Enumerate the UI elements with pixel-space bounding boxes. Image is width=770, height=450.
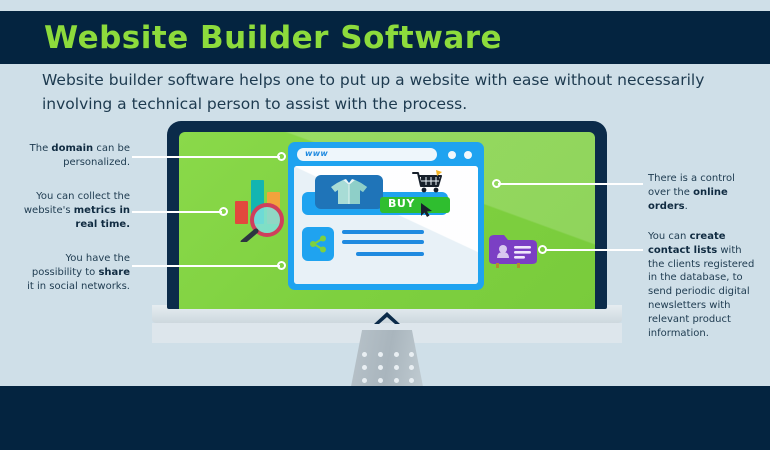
connector-node-share [277, 261, 286, 270]
browser-toolbar: www [294, 148, 478, 162]
connector-node-contacts [538, 245, 547, 254]
infographic-canvas: Website Builder Software Website builder… [0, 0, 770, 450]
callout-contacts: You can create contact lists with the cl… [648, 230, 756, 340]
contact-card-icon [487, 232, 539, 270]
connector-node-metrics [219, 207, 228, 216]
buy-button-label: BUY [388, 197, 415, 210]
connector-node-domain [277, 152, 286, 161]
connector-line-metrics [132, 211, 222, 213]
window-dot-1 [448, 151, 456, 159]
chevron-up-icon [372, 310, 402, 326]
address-bar-text: www [305, 149, 328, 158]
connector-node-orders [492, 179, 501, 188]
share-network-icon [308, 234, 328, 254]
browser-page-content: BUY [294, 166, 478, 284]
browser-window-mockup: www [288, 142, 484, 290]
magnifier-chart-icon [227, 178, 293, 242]
connector-line-share [132, 265, 280, 267]
callout-metrics: You can collect the website's metrics in… [14, 190, 130, 231]
page-title: Website Builder Software [44, 20, 502, 56]
shopping-cart-icon [412, 170, 442, 194]
top-spacer [0, 0, 770, 11]
stand-vent-dots [362, 352, 414, 386]
text-line-3 [356, 252, 424, 256]
text-line-2 [342, 240, 424, 244]
connector-line-orders [498, 183, 643, 185]
connector-line-contacts [545, 249, 643, 251]
callout-share: You have the possibility to share it in … [24, 252, 130, 293]
intro-paragraph: Website builder software helps one to pu… [42, 68, 732, 116]
window-dot-2 [464, 151, 472, 159]
tshirt-icon [329, 179, 369, 205]
mouse-cursor-icon [420, 202, 434, 218]
callout-domain: The domain can be personalized. [20, 142, 130, 170]
callout-orders: There is a control over the online order… [648, 172, 756, 213]
connector-line-domain [132, 156, 280, 158]
text-line-1 [342, 230, 424, 234]
bottom-band [0, 386, 770, 450]
